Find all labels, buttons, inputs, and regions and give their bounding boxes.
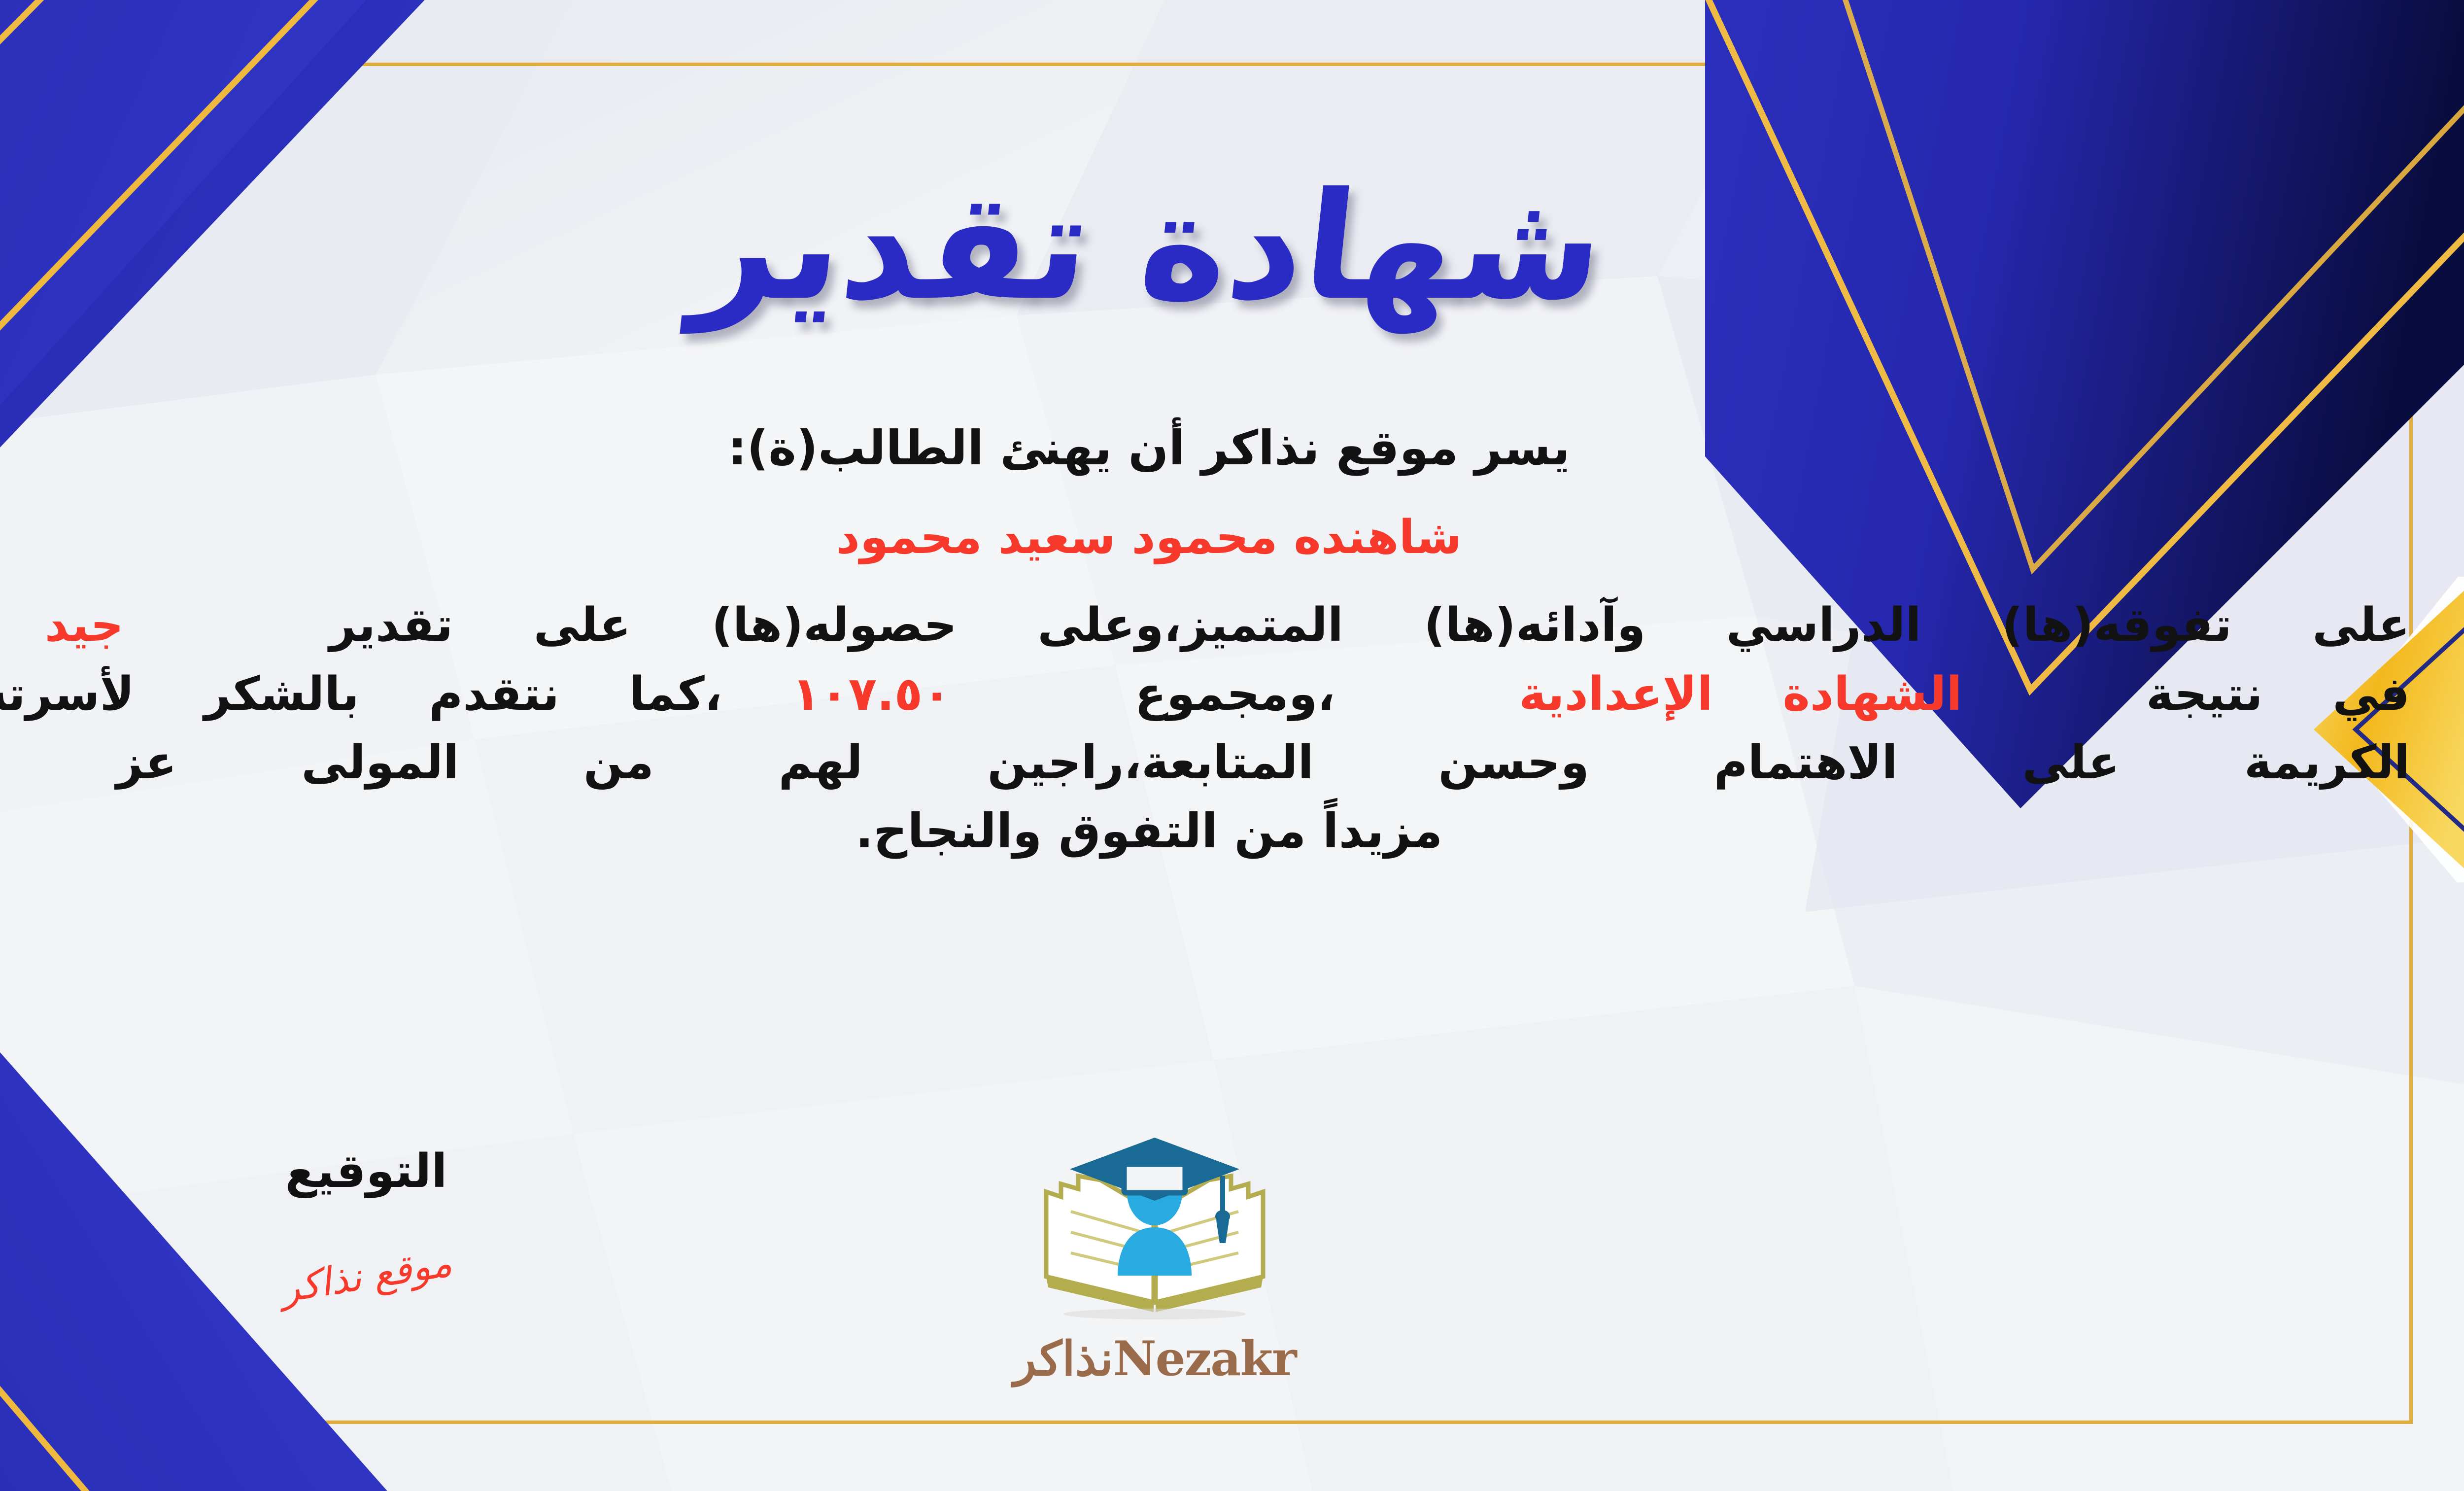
logo-mark-icon	[1027, 1129, 1283, 1326]
thanks-text: ،كما نتقدم بالشكر لأسرته(ها)	[0, 667, 722, 721]
total-score: ١٠٧.٥٠	[792, 667, 951, 721]
certificate-title: شهادة تقدير	[0, 173, 2464, 321]
total-label: ،ومجموع	[1135, 667, 1335, 721]
logo-wordmark-en: Nezakr	[1113, 1331, 1296, 1387]
logo-wordmark-ar: نذاكر	[1013, 1331, 1113, 1387]
grade-value: جيد جداً	[0, 598, 124, 652]
signature-mark: موقع نذاكر	[277, 1241, 455, 1312]
student-name: شاهنده محمود سعيد محمود	[0, 504, 2410, 571]
achievement-text: على تفوقه(ها) الدراسي وآدائه(ها) المتميز…	[329, 598, 2410, 652]
logo-wordmark: Nezakrنذاكر	[982, 1331, 1327, 1387]
certificate-stage: الشهادة الإعدادية	[1519, 667, 1962, 721]
family-thanks-line: الكريمة على الاهتمام وحسن المتابعة،راجين…	[0, 728, 2410, 797]
intro-line: يسر موقع نذاكر أن يهنئ الطالب(ة):	[0, 414, 2410, 483]
signature-label: التوقيع	[208, 1148, 524, 1195]
certificate-body: يسر موقع نذاكر أن يهنئ الطالب(ة): شاهنده…	[0, 414, 2410, 866]
achievement-line: على تفوقه(ها) الدراسي وآدائه(ها) المتميز…	[0, 591, 2410, 659]
result-prefix: في نتيجة	[2146, 667, 2410, 721]
certificate-canvas: شهادة تقدير يسر موقع نذاكر أن يهنئ الطال…	[0, 0, 2464, 1491]
site-logo: Nezakrنذاكر	[982, 1129, 1327, 1387]
result-line: في نتيجة الشهادة الإعدادية ،ومجموع ١٠٧.٥…	[0, 660, 2410, 728]
signature-block: التوقيع موقع نذاكر	[208, 1148, 524, 1298]
closing-line: مزيداً من التفوق والنجاح.	[0, 797, 2410, 866]
